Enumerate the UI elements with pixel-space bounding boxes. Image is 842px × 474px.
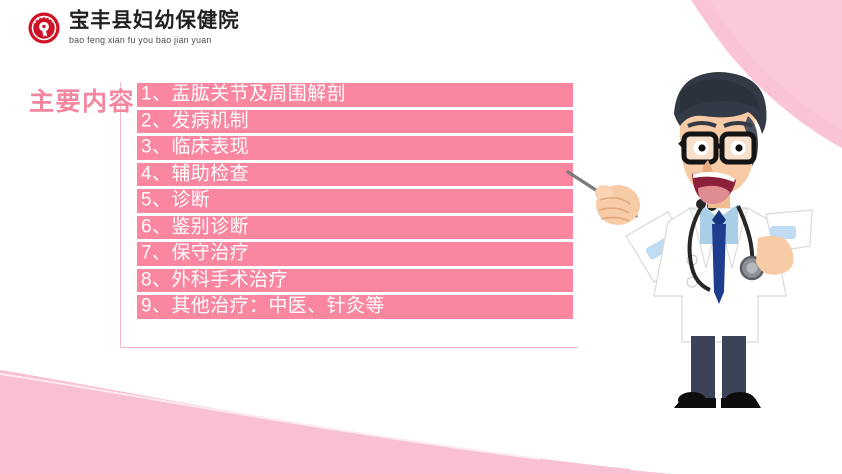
list-item[interactable]: 7、保守治疗 xyxy=(137,242,573,266)
list-item[interactable]: 2、发病机制 xyxy=(137,110,573,134)
topic-list: 1、盂肱关节及周围解剖 2、发病机制 3、临床表现 4、辅助检查 5、诊断 6、… xyxy=(137,83,573,319)
list-item[interactable]: 1、盂肱关节及周围解剖 xyxy=(137,83,573,107)
cartoon-doctor-with-pointer-illustration xyxy=(562,60,842,410)
hospital-brand-header: 宝丰县妇幼保健院 bao feng xian fu you bao jian y… xyxy=(28,11,239,44)
pink-curve-bottom-left-front xyxy=(0,370,630,474)
slide-canvas: 宝丰县妇幼保健院 bao feng xian fu you bao jian y… xyxy=(0,0,842,474)
topic-label: 6、鉴别诊断 xyxy=(137,217,249,236)
topic-label: 9、其他治疗：中医、针灸等 xyxy=(137,297,385,316)
topic-label: 3、临床表现 xyxy=(137,138,249,157)
list-item[interactable]: 4、辅助检查 xyxy=(137,163,573,187)
topic-label: 5、诊断 xyxy=(137,191,210,210)
pink-curve-highlight xyxy=(0,374,540,459)
hospital-name-cn: 宝丰县妇幼保健院 xyxy=(69,11,239,32)
topic-label: 1、盂肱关节及周围解剖 xyxy=(137,85,346,104)
list-item[interactable]: 6、鉴别诊断 xyxy=(137,216,573,240)
topic-label: 4、辅助检查 xyxy=(137,164,249,183)
hospital-seal-logo-icon xyxy=(28,12,60,44)
topic-label: 7、保守治疗 xyxy=(137,244,249,263)
hospital-name-pinyin: bao feng xian fu you bao jian yuan xyxy=(69,36,239,45)
list-item[interactable]: 5、诊断 xyxy=(137,189,573,213)
list-item[interactable]: 8、外科手术治疗 xyxy=(137,269,573,293)
doctor-tie-body xyxy=(712,224,726,304)
hospital-name-block: 宝丰县妇幼保健院 bao feng xian fu you bao jian y… xyxy=(69,11,239,44)
list-item[interactable]: 3、临床表现 xyxy=(137,136,573,160)
page-title: 主要内容 xyxy=(29,82,135,118)
doctor-left-hand xyxy=(595,185,640,225)
topic-label: 2、发病机制 xyxy=(137,111,249,130)
topic-label: 8、外科手术治疗 xyxy=(137,270,288,289)
list-item[interactable]: 9、其他治疗：中医、针灸等 xyxy=(137,295,573,319)
